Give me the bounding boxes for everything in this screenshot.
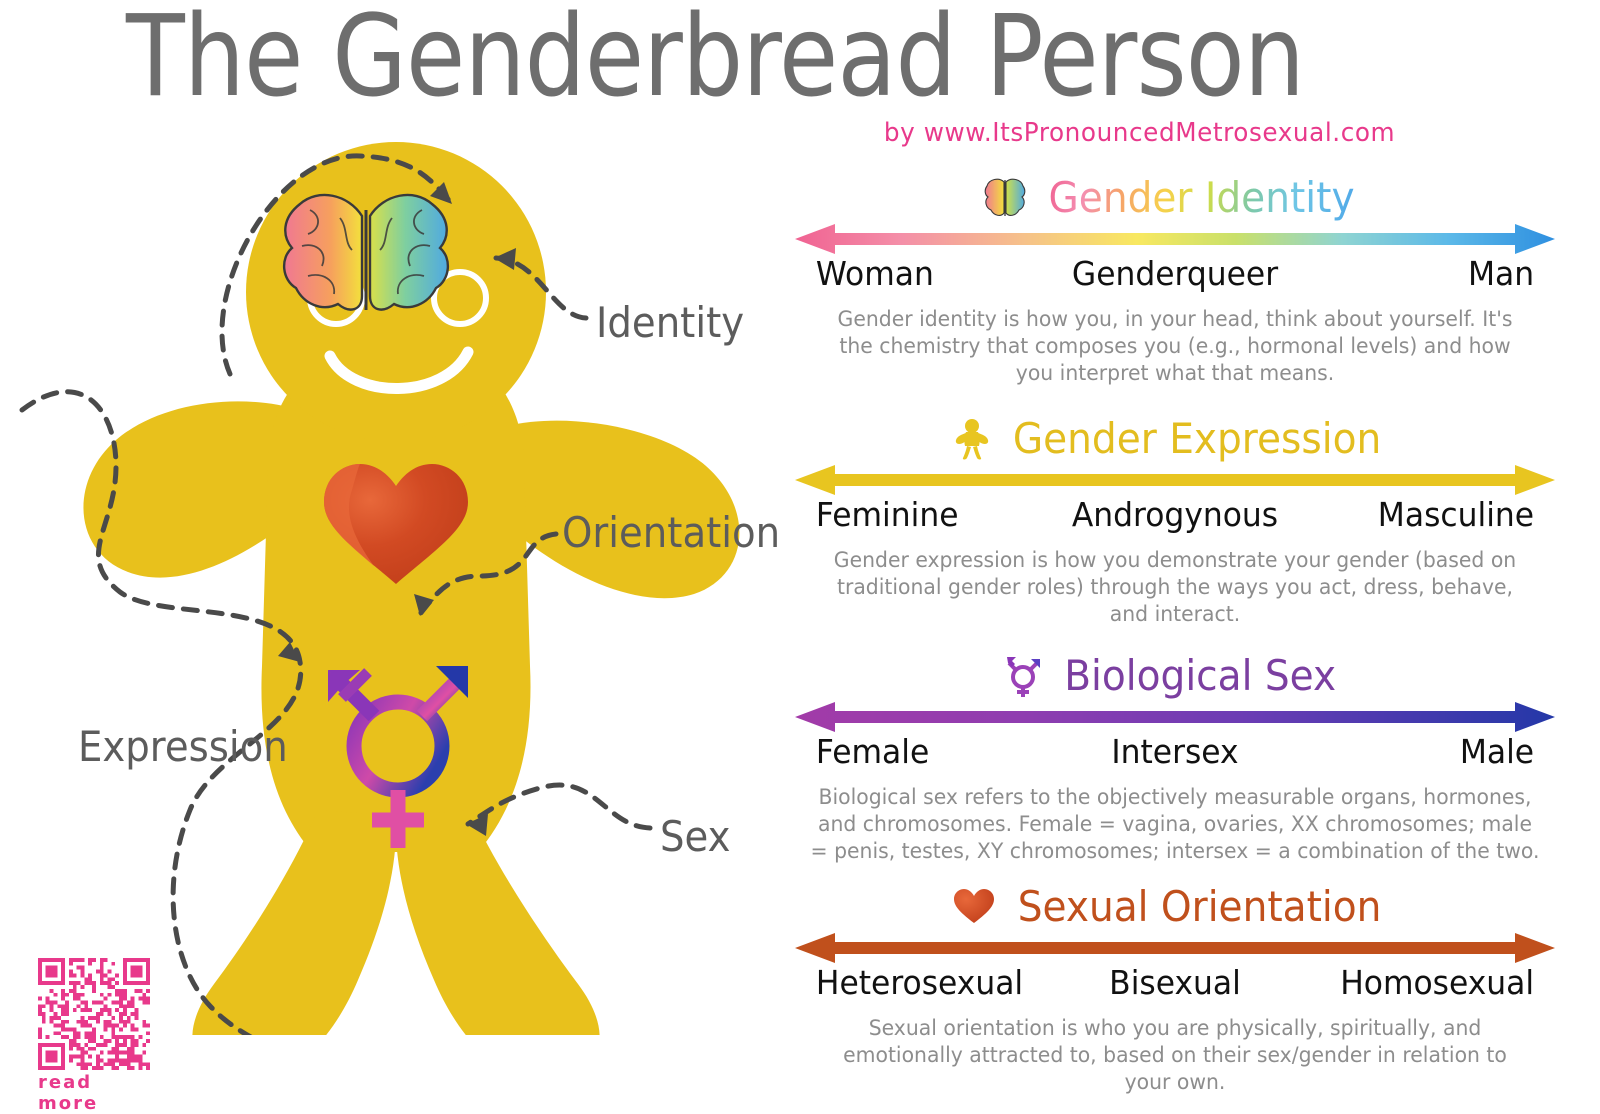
axis-label-middle: Genderqueer bbox=[814, 254, 1536, 293]
brain-icon bbox=[284, 195, 448, 310]
genderbread-figure-panel: Identity Orientation Expression Sex read… bbox=[0, 110, 800, 1035]
gingerbread-person-icon bbox=[955, 418, 989, 460]
genderbread-person-illustration bbox=[0, 110, 800, 1035]
section-title: Biological Sex bbox=[1064, 653, 1336, 699]
heart-icon bbox=[954, 889, 994, 925]
transgender-symbol-icon bbox=[1004, 653, 1044, 699]
spectrum-column: Gender Identity bbox=[795, 172, 1555, 1096]
callout-label-identity: Identity bbox=[596, 298, 744, 347]
byline-link[interactable]: by www.ItsPronouncedMetrosexual.com bbox=[884, 118, 1395, 148]
callout-label-expression: Expression bbox=[78, 722, 288, 771]
section-description: Biological sex refers to the objectively… bbox=[806, 784, 1543, 865]
section-description: Gender identity is how you, in your head… bbox=[826, 306, 1524, 387]
callout-label-orientation: Orientation bbox=[562, 508, 780, 557]
section-description: Gender expression is how you demonstrate… bbox=[826, 547, 1524, 628]
identity-axis-labels: Woman Genderqueer Man bbox=[814, 254, 1536, 300]
callout-label-sex: Sex bbox=[660, 812, 730, 861]
qr-code-image[interactable] bbox=[38, 958, 150, 1070]
page-title: The Genderbread Person bbox=[100, 0, 1330, 120]
section-biological-sex: Biological Sex Female Intersex Male Bi bbox=[795, 650, 1555, 865]
orientation-axis-labels: Heterosexual Bisexual Homosexual bbox=[814, 963, 1536, 1009]
qr-code-block[interactable]: read more bbox=[38, 958, 158, 1114]
section-title: Gender Expression bbox=[1013, 416, 1381, 462]
section-sexual-orientation: Sexual Orientation Heterosexual Bisexual… bbox=[795, 881, 1555, 1096]
brain-icon bbox=[983, 178, 1027, 218]
section-title: Sexual Orientation bbox=[1018, 884, 1382, 930]
sex-axis bbox=[795, 702, 1555, 732]
orientation-axis bbox=[795, 933, 1555, 963]
section-description: Sexual orientation is who you are physic… bbox=[826, 1015, 1524, 1096]
axis-label-middle: Intersex bbox=[814, 732, 1536, 771]
axis-label-right: Male bbox=[1460, 732, 1534, 771]
axis-label-right: Homosexual bbox=[1340, 963, 1534, 1002]
sex-axis-labels: Female Intersex Male bbox=[814, 732, 1536, 778]
expression-axis-labels: Feminine Androgynous Masculine bbox=[814, 495, 1536, 541]
axis-label-right: Man bbox=[1468, 254, 1534, 293]
qr-caption: read more bbox=[38, 1072, 158, 1114]
expression-axis bbox=[795, 465, 1555, 495]
identity-axis bbox=[795, 224, 1555, 254]
section-gender-expression: Gender Expression Feminine Androgynous M… bbox=[795, 413, 1555, 628]
section-gender-identity: Gender Identity bbox=[795, 172, 1555, 387]
section-title: Gender Identity bbox=[1049, 175, 1355, 221]
axis-label-right: Masculine bbox=[1378, 495, 1534, 534]
